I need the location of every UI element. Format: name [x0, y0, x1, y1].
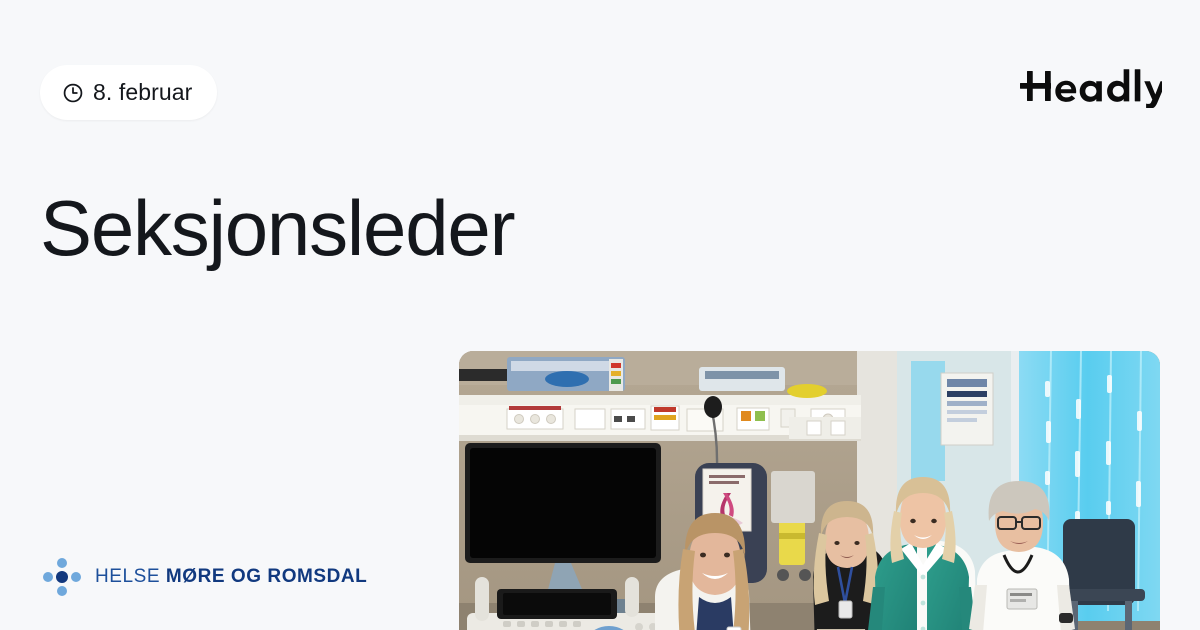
headly-logo[interactable]: [1020, 62, 1162, 110]
date-label: 8. februar: [93, 81, 192, 104]
clock-icon: [62, 82, 84, 104]
article-photo: [459, 351, 1160, 630]
helse-dots-icon: [42, 557, 82, 597]
poster-canvas: 8. februar Seksjonsleder: [0, 0, 1200, 630]
org-name-light: HELSE: [95, 566, 160, 587]
org-name: HELSE MØRE OG ROMSDAL: [95, 566, 367, 588]
helse-more-og-romsdal-logo: HELSE MØRE OG ROMSDAL: [42, 557, 367, 597]
date-badge: 8. februar: [40, 65, 217, 120]
page-title: Seksjonsleder: [40, 186, 740, 270]
org-name-bold: MØRE OG ROMSDAL: [166, 566, 367, 587]
